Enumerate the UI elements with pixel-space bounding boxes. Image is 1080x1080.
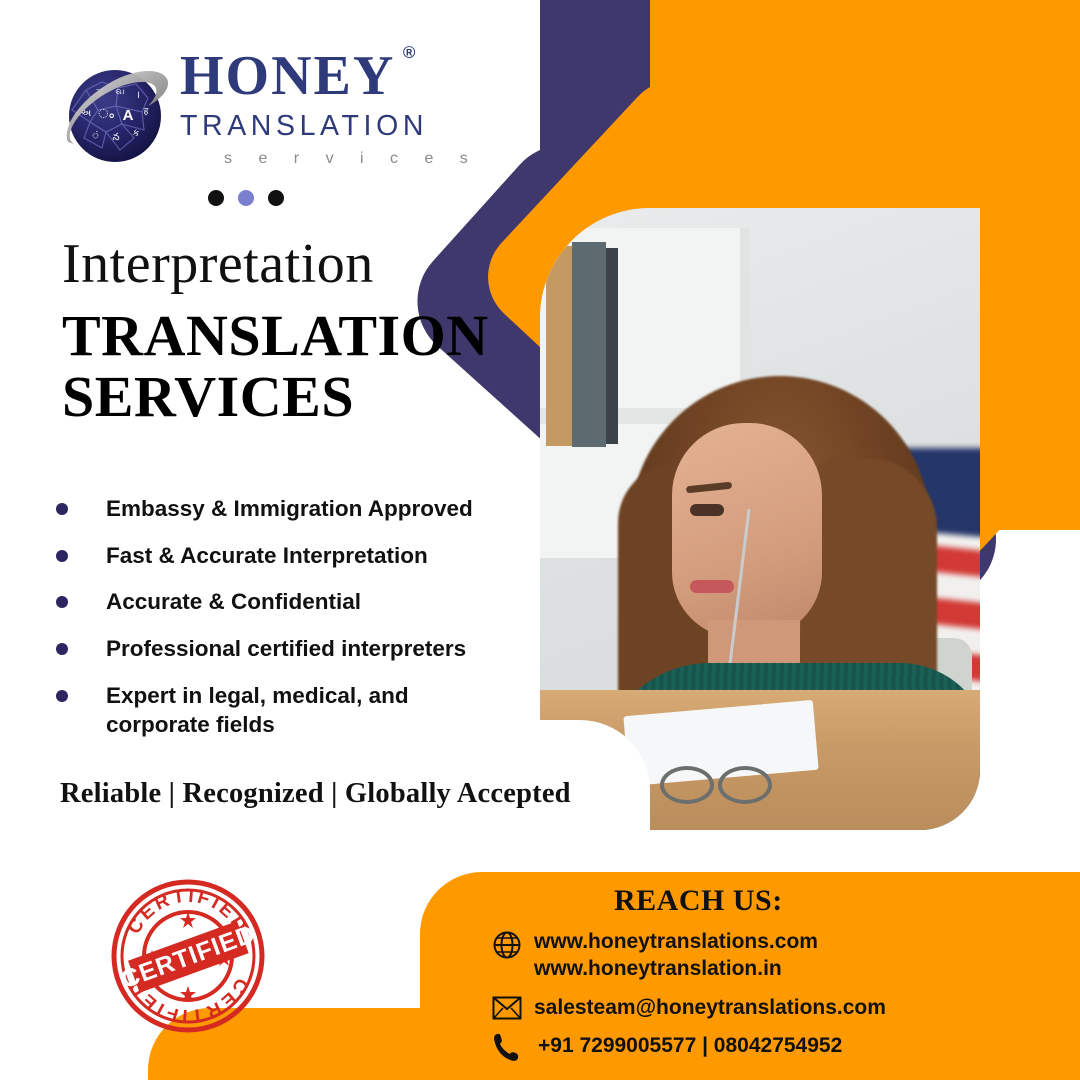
headline-script: Interpretation bbox=[62, 236, 489, 292]
envelope-icon bbox=[492, 994, 534, 1020]
website-secondary[interactable]: www.honeytranslation.in bbox=[534, 955, 818, 982]
poster-canvas: ক வ । અ ം A ह ் న ક HONEY ® TRANSLATION bbox=[0, 0, 1080, 1080]
brand-logo: ক வ । અ ം A ह ் న ક HONEY ® TRANSLATION bbox=[56, 48, 476, 178]
email-address[interactable]: salesteam@honeytranslations.com bbox=[534, 994, 886, 1021]
feature-list: Embassy & Immigration Approved Fast & Ac… bbox=[56, 494, 526, 757]
photo-scene bbox=[540, 208, 980, 830]
logo-name-tag: s e r v i c e s bbox=[224, 150, 480, 168]
contact-heading: REACH US: bbox=[614, 884, 783, 918]
logo-name-sub: TRANSLATION bbox=[180, 110, 480, 143]
phone-number[interactable]: +91 7299005577 | 08042754952 bbox=[538, 1032, 842, 1059]
tagline: Reliable | Recognized | Globally Accepte… bbox=[60, 778, 571, 810]
hero-photo bbox=[540, 208, 980, 830]
logo-wordmark: HONEY ® TRANSLATION s e r v i c e s bbox=[180, 48, 480, 168]
list-item: Embassy & Immigration Approved bbox=[56, 494, 526, 524]
bullet-dot-icon bbox=[56, 596, 68, 608]
globe-icon bbox=[492, 928, 534, 960]
registered-mark-icon: ® bbox=[403, 44, 418, 61]
list-item: Expert in legal, medical, and corporate … bbox=[56, 681, 526, 740]
svg-text:న: న bbox=[112, 132, 119, 143]
list-item: Accurate & Confidential bbox=[56, 587, 526, 617]
contact-row-phone: +91 7299005577 | 08042754952 bbox=[492, 1032, 886, 1062]
eyeglasses bbox=[660, 766, 780, 800]
logo-name-main: HONEY bbox=[180, 45, 395, 107]
contact-list: www.honeytranslations.com www.honeytrans… bbox=[492, 928, 886, 1073]
list-item-label: Fast & Accurate Interpretation bbox=[106, 541, 428, 571]
decorative-dots bbox=[208, 190, 284, 206]
bullet-dot-icon bbox=[56, 690, 68, 702]
svg-text:ह: ह bbox=[144, 106, 149, 116]
bullet-dot-icon bbox=[56, 643, 68, 655]
svg-text:ം: ം bbox=[98, 106, 114, 121]
list-item: Fast & Accurate Interpretation bbox=[56, 541, 526, 571]
list-item-label: Professional certified interpreters bbox=[106, 634, 466, 664]
website-primary[interactable]: www.honeytranslations.com bbox=[534, 928, 818, 955]
svg-text:A: A bbox=[123, 107, 134, 124]
list-item: Professional certified interpreters bbox=[56, 634, 526, 664]
dot-2 bbox=[238, 190, 254, 206]
dot-3 bbox=[268, 190, 284, 206]
svg-text:்: ் bbox=[92, 130, 101, 141]
svg-text:ક: ક bbox=[132, 128, 139, 139]
svg-text:।: । bbox=[136, 90, 140, 101]
headline-bold-1: TRANSLATION bbox=[62, 302, 489, 369]
list-item-label: Accurate & Confidential bbox=[106, 587, 361, 617]
globe-languages-icon: ক வ । અ ം A ह ் న ક bbox=[56, 54, 174, 172]
bullet-dot-icon bbox=[56, 550, 68, 562]
contact-row-website: www.honeytranslations.com www.honeytrans… bbox=[492, 928, 886, 983]
certified-stamp-icon: CERTIFIED CERTIFIED CERTIFIED bbox=[108, 876, 268, 1036]
phone-icon bbox=[492, 1032, 534, 1062]
list-item-label: Expert in legal, medical, and corporate … bbox=[106, 681, 458, 740]
dot-1 bbox=[208, 190, 224, 206]
page-title: Interpretation TRANSLATION SERVICES bbox=[62, 236, 489, 431]
contact-row-email: salesteam@honeytranslations.com bbox=[492, 994, 886, 1021]
headline-bold-2: SERVICES bbox=[62, 363, 489, 430]
list-item-label: Embassy & Immigration Approved bbox=[106, 494, 473, 524]
bullet-dot-icon bbox=[56, 503, 68, 515]
